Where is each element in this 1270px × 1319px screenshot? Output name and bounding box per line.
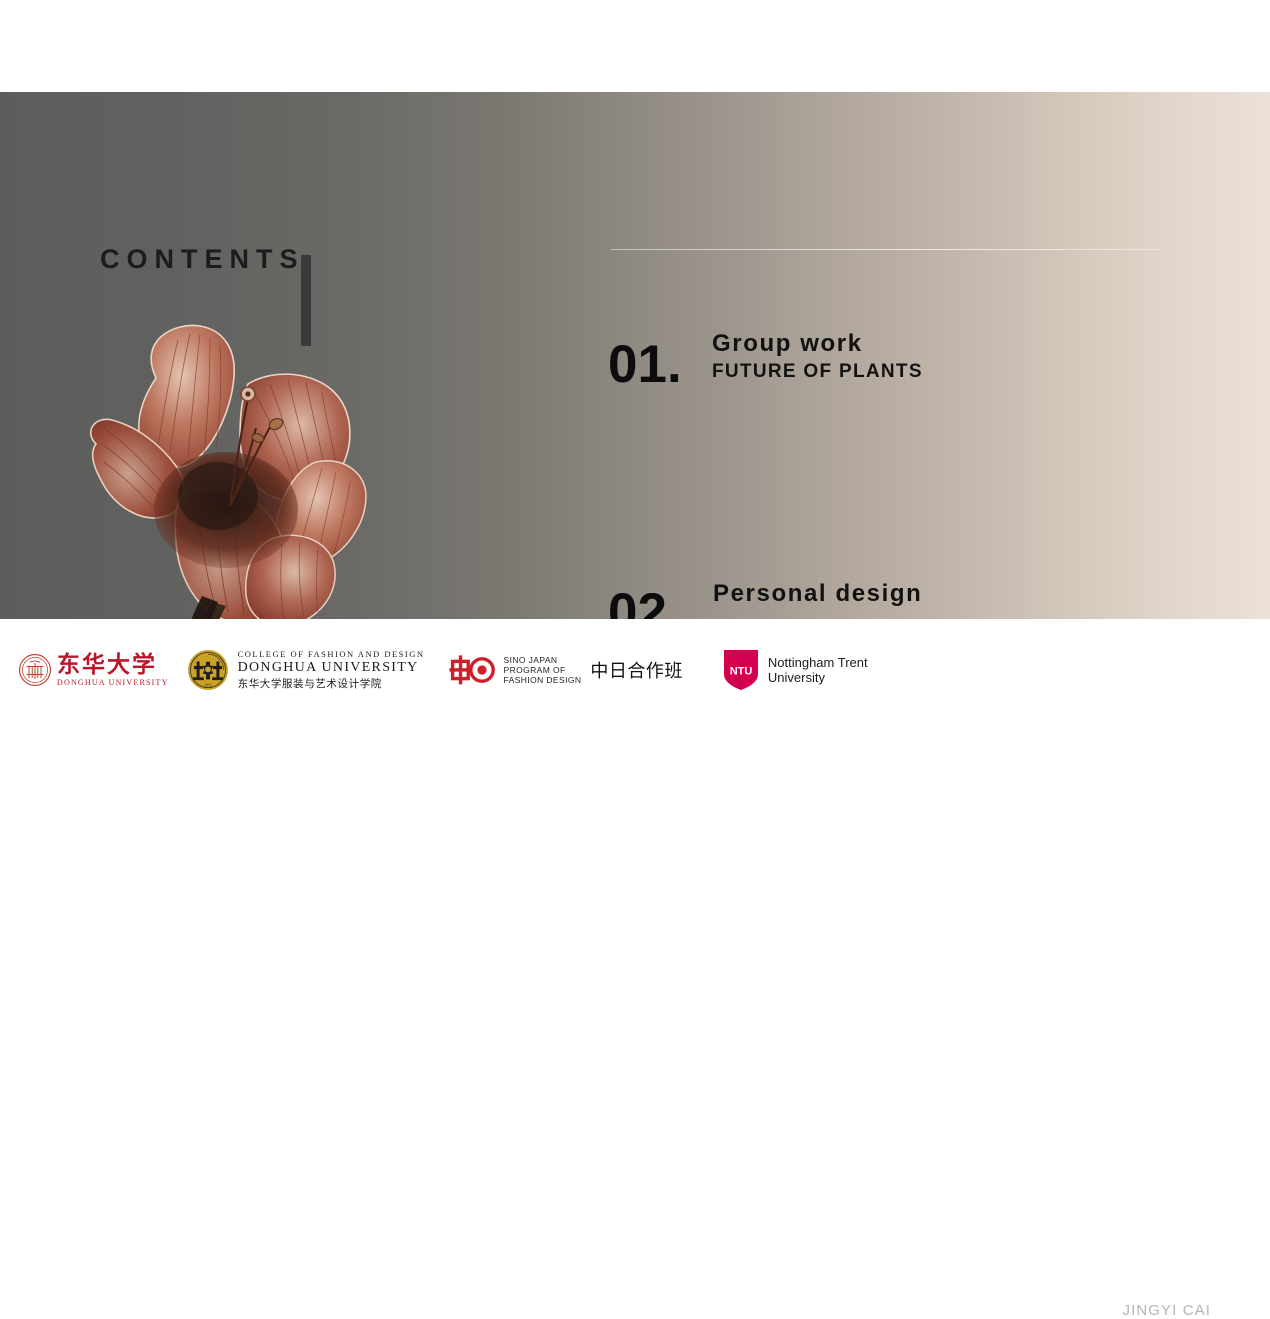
- logo-sino-japan-program: SINO JAPAN PROGRAM OF FASHION DESIGN 中日合…: [425, 653, 683, 687]
- svg-text:1951: 1951: [204, 683, 212, 688]
- college-wordmark: COLLEGE OF FASHION AND DESIGN DONGHUA UN…: [238, 650, 425, 691]
- ntu-line-1: Nottingham Trent: [768, 655, 868, 670]
- slide-footer: 东华大学 DONGHUA UNIVERSITY: [0, 619, 1270, 714]
- agenda-item-01[interactable]: 01. Group work FUTURE OF PLANTS: [608, 315, 1168, 437]
- agenda-item-02[interactable]: 02. Personal design: [608, 437, 1168, 559]
- college-line-1: COLLEGE OF FASHION AND DESIGN: [238, 650, 425, 660]
- sino-japan-wordmark: SINO JAPAN PROGRAM OF FASHION DESIGN: [504, 655, 582, 685]
- page-title: CONTENTS: [100, 242, 305, 276]
- ntu-shield-icon: NTU: [723, 650, 759, 690]
- sino-japan-chinese-name: 中日合作班: [590, 657, 683, 683]
- college-line-2: DONGHUA UNIVERSITY: [238, 660, 425, 676]
- donghua-english-name: DONGHUA UNIVERSITY: [57, 679, 169, 687]
- agenda-item-03[interactable]: 03. Ready to wear display: [608, 559, 1168, 619]
- sino-japan-line-3: FASHION DESIGN: [504, 675, 582, 685]
- agenda-number: 01.: [608, 337, 682, 393]
- logo-college-of-fashion-and-design: 1951 COLLEGE OF FASHION AND DESIGN DONGH…: [169, 649, 425, 691]
- sino-japan-line-1: SINO JAPAN: [504, 655, 582, 665]
- agenda-title: Group work: [712, 329, 923, 359]
- slide-hero-panel: CONTENTS: [0, 92, 1270, 619]
- pressed-flower-illustration: [78, 320, 398, 619]
- ntu-wordmark: Nottingham Trent University: [768, 655, 868, 685]
- gold-seal-icon: 1951: [187, 649, 229, 691]
- logo-nottingham-trent-university: NTU Nottingham Trent University: [723, 650, 868, 690]
- divider-line: [611, 249, 1160, 250]
- sino-japan-mark-icon: [449, 653, 497, 687]
- partner-logo-row: 东华大学 DONGHUA UNIVERSITY: [18, 649, 868, 691]
- donghua-chinese-name: 东华大学: [57, 654, 169, 677]
- agenda-text-group: Group work FUTURE OF PLANTS: [712, 329, 923, 385]
- ntu-abbreviation: NTU: [730, 666, 753, 678]
- sino-japan-line-2: PROGRAM OF: [504, 665, 582, 675]
- ntu-line-2: University: [768, 670, 868, 685]
- agenda-subtitle: FUTURE OF PLANTS: [712, 359, 923, 385]
- college-line-3: 东华大学服装与艺术设计学院: [238, 678, 425, 690]
- donghua-seal-icon: [18, 653, 52, 687]
- author-credit: JINGYI CAI: [1122, 1302, 1211, 1319]
- logo-donghua-university: 东华大学 DONGHUA UNIVERSITY: [18, 653, 169, 687]
- agenda-list: 01. Group work FUTURE OF PLANTS 02. Pers…: [608, 315, 1168, 619]
- donghua-wordmark: 东华大学 DONGHUA UNIVERSITY: [57, 654, 169, 687]
- presentation-slide: CONTENTS: [0, 0, 1270, 714]
